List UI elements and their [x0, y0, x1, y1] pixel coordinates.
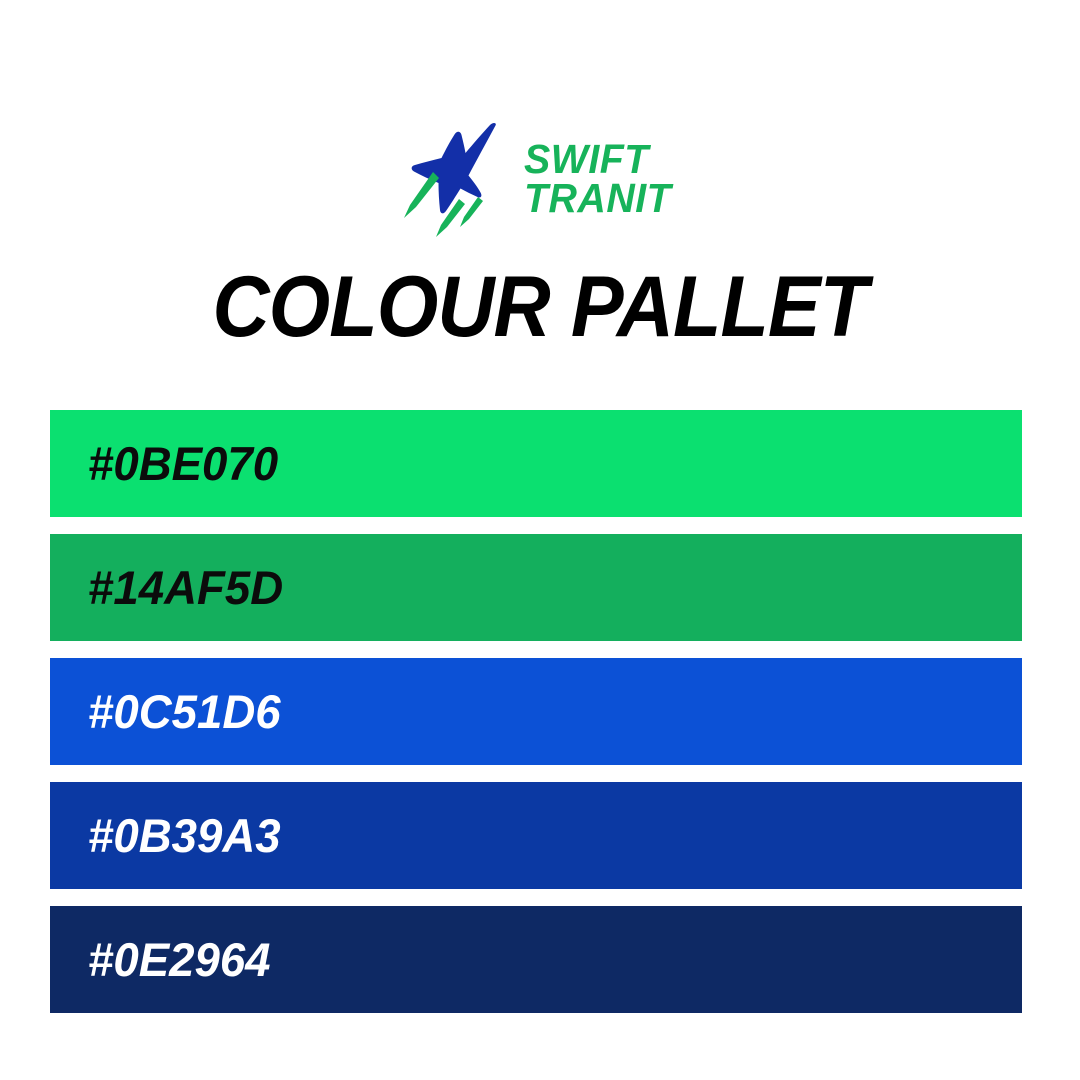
swatch-row[interactable]: #0E2964 — [50, 906, 1022, 1013]
swatch-row[interactable]: #14AF5D — [50, 534, 1022, 641]
brand-lockup: SWIFT TRANIT — [402, 118, 677, 238]
brand-wordmark: SWIFT TRANIT — [524, 140, 677, 217]
swatch-hex-label: #0BE070 — [88, 436, 278, 491]
page-title: COLOUR PALLET — [213, 264, 868, 350]
brand-name-line-2: TRANIT — [524, 179, 671, 218]
swatch-hex-label: #0C51D6 — [88, 684, 281, 739]
brand-name-line-1: SWIFT — [524, 140, 671, 179]
swatch-hex-label: #0E2964 — [88, 932, 271, 987]
jet-arrow-icon — [402, 119, 518, 237]
swatch-row[interactable]: #0B39A3 — [50, 782, 1022, 889]
swatch-row[interactable]: #0BE070 — [50, 410, 1022, 517]
swatch-list: #0BE070 #14AF5D #0C51D6 #0B39A3 #0E2964 — [50, 410, 1022, 1013]
swatch-hex-label: #0B39A3 — [88, 808, 281, 863]
swatch-row[interactable]: #0C51D6 — [50, 658, 1022, 765]
swatch-hex-label: #14AF5D — [88, 560, 283, 615]
colour-palette-page: SWIFT TRANIT COLOUR PALLET #0BE070 #14AF… — [0, 0, 1080, 1080]
